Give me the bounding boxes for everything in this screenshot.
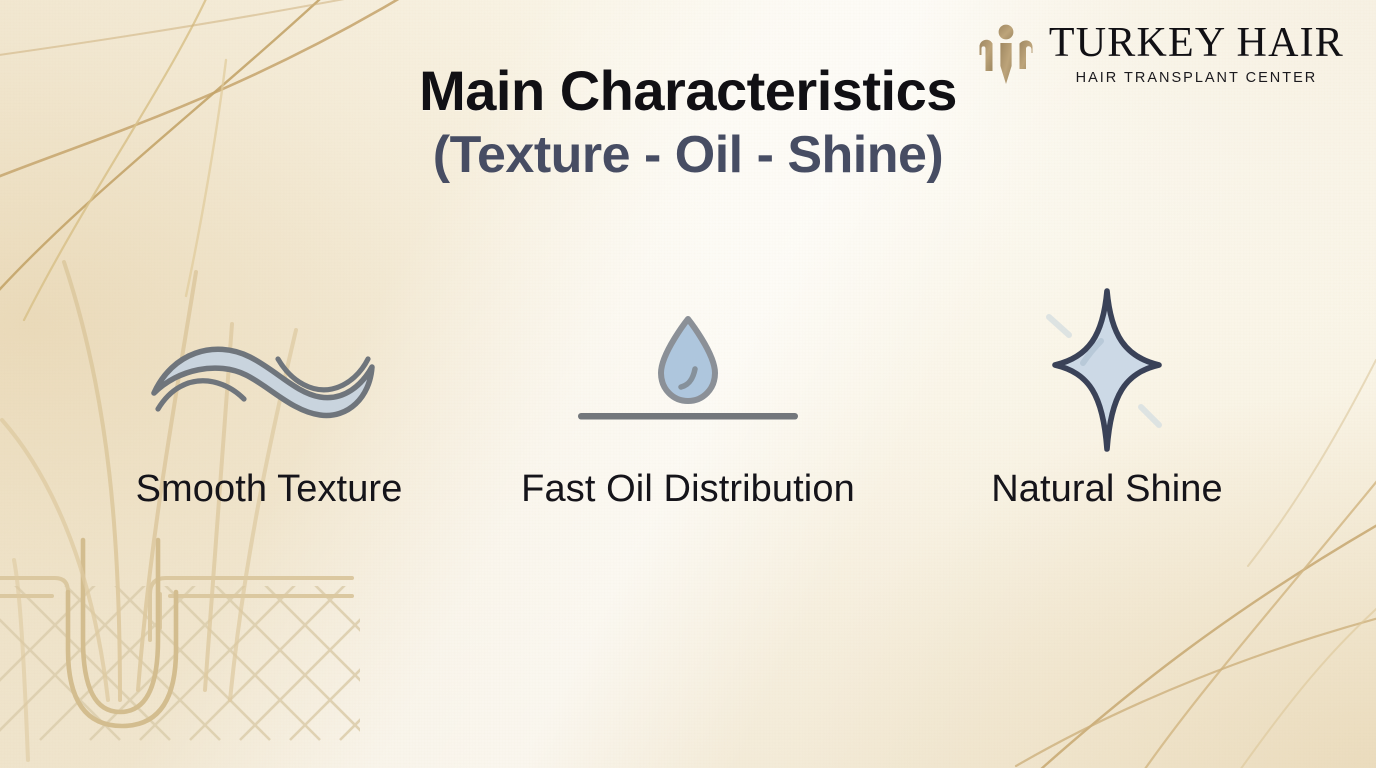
page-subtitle: (Texture - Oil - Shine)	[0, 127, 1376, 183]
feature-label: Smooth Texture	[136, 468, 403, 511]
title-block: Main Characteristics (Texture - Oil - Sh…	[0, 62, 1376, 183]
feature-icon-wrap	[1007, 280, 1207, 460]
sparkle-star-icon	[1007, 283, 1207, 458]
feature-icon-wrap	[563, 280, 813, 460]
feature-smooth-texture[interactable]: Smooth Texture	[84, 280, 454, 511]
feature-label: Natural Shine	[991, 468, 1223, 511]
infographic-canvas: TURKEY HAIR HAIR TRANSPLANT CENTER Main …	[0, 0, 1376, 768]
surface-bar	[578, 413, 798, 420]
logo-wordmark: TURKEY HAIR	[1049, 22, 1344, 64]
feature-label: Fast Oil Distribution	[521, 468, 855, 511]
wave-icon	[144, 305, 394, 435]
feature-icon-wrap	[144, 280, 394, 460]
feature-row: Smooth Texture Fast Oil Distribution	[84, 280, 1292, 511]
follicle-bulb	[68, 540, 176, 726]
skin-lattice-pattern	[0, 560, 520, 740]
page-title: Main Characteristics	[0, 62, 1376, 121]
feature-fast-oil-distribution[interactable]: Fast Oil Distribution	[503, 280, 873, 511]
feature-natural-shine[interactable]: Natural Shine	[922, 280, 1292, 511]
droplet-icon	[563, 305, 813, 435]
skin-surface-line	[0, 578, 352, 640]
